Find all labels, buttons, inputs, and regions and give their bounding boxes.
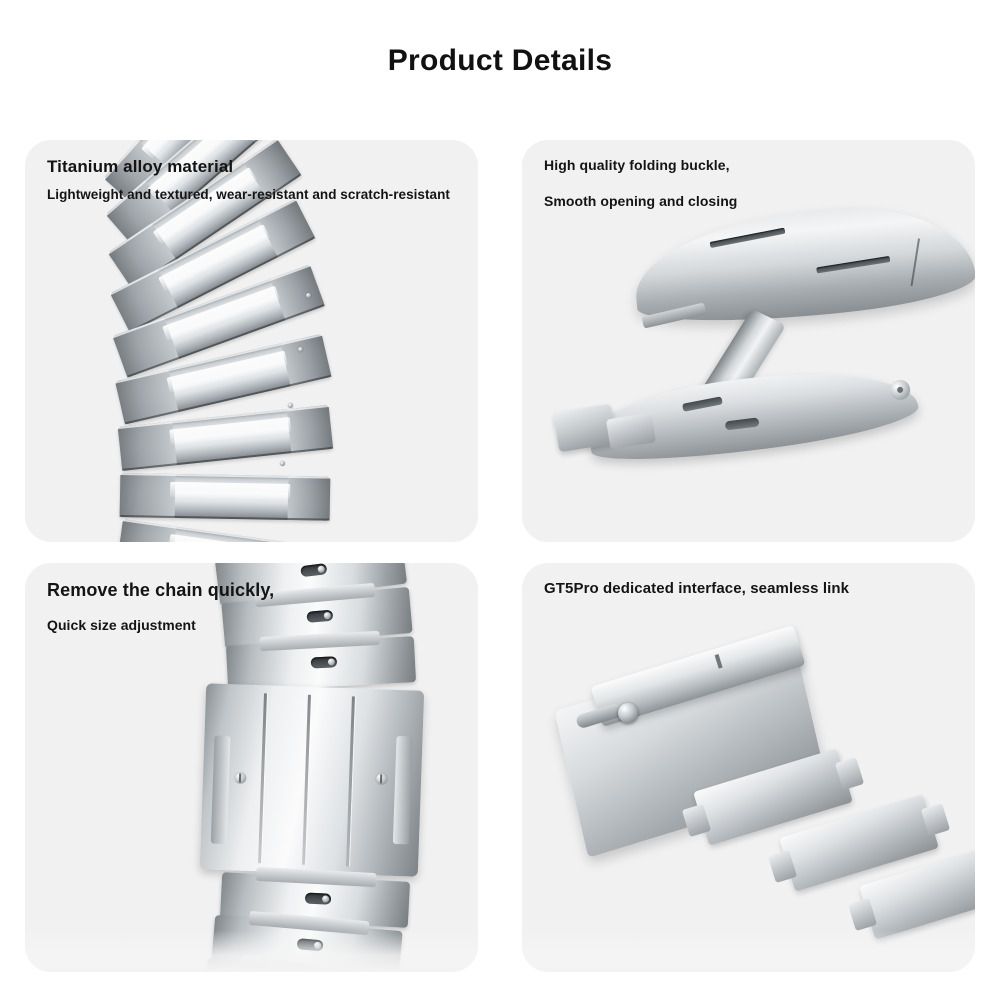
card-text-block: High quality folding buckle, Smooth open…: [544, 157, 965, 211]
card-heading: High quality folding buckle,: [544, 157, 965, 174]
buckle-cover-plate: [630, 197, 975, 330]
card-gt5pro-interface[interactable]: GT5Pro dedicated interface, seamless lin…: [522, 563, 975, 972]
card-heading: Remove the chain quickly,: [47, 580, 468, 602]
gt5pro-connector-image: [522, 563, 975, 972]
image-bottom-fade: [25, 930, 478, 972]
image-bottom-fade: [522, 930, 975, 972]
bracelet-clasp-section: [200, 683, 424, 876]
card-subtext: Smooth opening and closing: [544, 192, 965, 211]
product-detail-card-grid: Titanium alloy material Lightweight and …: [25, 140, 975, 972]
card-subtext: Lightweight and textured, wear-resistant…: [47, 186, 468, 204]
card-folding-buckle[interactable]: High quality folding buckle, Smooth open…: [522, 140, 975, 542]
card-subtext: Quick size adjustment: [47, 616, 468, 635]
card-heading: GT5Pro dedicated interface, seamless lin…: [544, 580, 965, 598]
card-heading: Titanium alloy material: [47, 157, 468, 177]
bracelet-link-chain: [120, 165, 478, 542]
card-text-block: Titanium alloy material Lightweight and …: [47, 157, 468, 205]
card-titanium-alloy-material[interactable]: Titanium alloy material Lightweight and …: [25, 140, 478, 542]
page-title: Product Details: [0, 44, 1000, 78]
connector-assembly: [522, 563, 975, 972]
card-text-block: Remove the chain quickly, Quick size adj…: [47, 580, 468, 634]
card-text-block: GT5Pro dedicated interface, seamless lin…: [544, 580, 965, 607]
card-remove-chain-quickly[interactable]: Remove the chain quickly, Quick size adj…: [25, 563, 478, 972]
release-ball-pin: [618, 703, 638, 723]
